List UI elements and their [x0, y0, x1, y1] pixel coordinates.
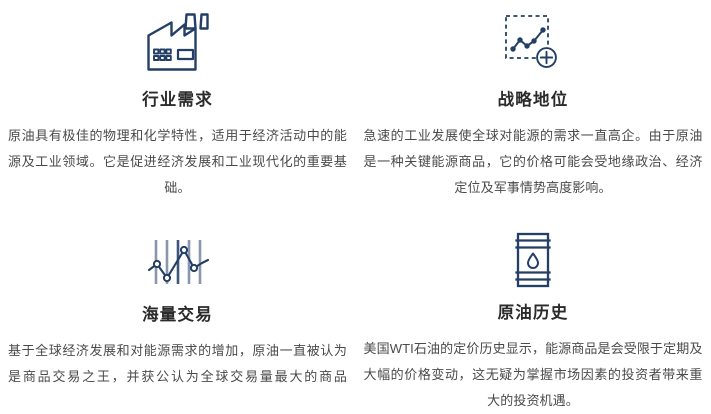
chart-add-icon — [503, 6, 563, 78]
factory-icon — [145, 6, 211, 78]
volume-chart-icon — [146, 229, 210, 295]
feature-card-industry-demand: 行业需求 原油具有极佳的物理和化学特性，适用于经济活动中的能源及工业领域。它是促… — [0, 0, 355, 207]
feature-grid: 行业需求 原油具有极佳的物理和化学特性，适用于经济活动中的能源及工业领域。它是促… — [0, 0, 711, 414]
oil-barrel-icon — [508, 227, 558, 293]
card-title: 海量交易 — [142, 307, 213, 324]
card-body: 原油具有极佳的物理和化学特性，适用于经济活动中的能源及工业领域。它是促进经济发展… — [8, 123, 347, 201]
feature-card-huge-volume: 海量交易 基于全球经济发展和对能源需求的增加，原油一直被认为是商品交易之王，并获… — [0, 207, 355, 414]
card-title: 行业需求 — [142, 92, 213, 109]
feature-card-strategic-position: 战略地位 急速的工业发展使全球对能源的需求一直高企。由于原油是一种关键能源商品，… — [355, 0, 711, 207]
card-body: 急速的工业发展使全球对能源的需求一直高企。由于原油是一种关键能源商品，它的价格可… — [364, 123, 703, 201]
card-title: 原油历史 — [498, 305, 569, 322]
card-body: 美国WTI石油的定价历史显示，能源商品是会受限于定期及大幅的价格变动，这无疑为掌… — [364, 336, 703, 414]
feature-card-oil-history: 原油历史 美国WTI石油的定价历史显示，能源商品是会受限于定期及大幅的价格变动，… — [355, 207, 711, 414]
card-body: 基于全球经济发展和对能源需求的增加，原油一直被认为是商品交易之王，并获公认为全球… — [8, 338, 347, 390]
card-title: 战略地位 — [498, 92, 569, 109]
